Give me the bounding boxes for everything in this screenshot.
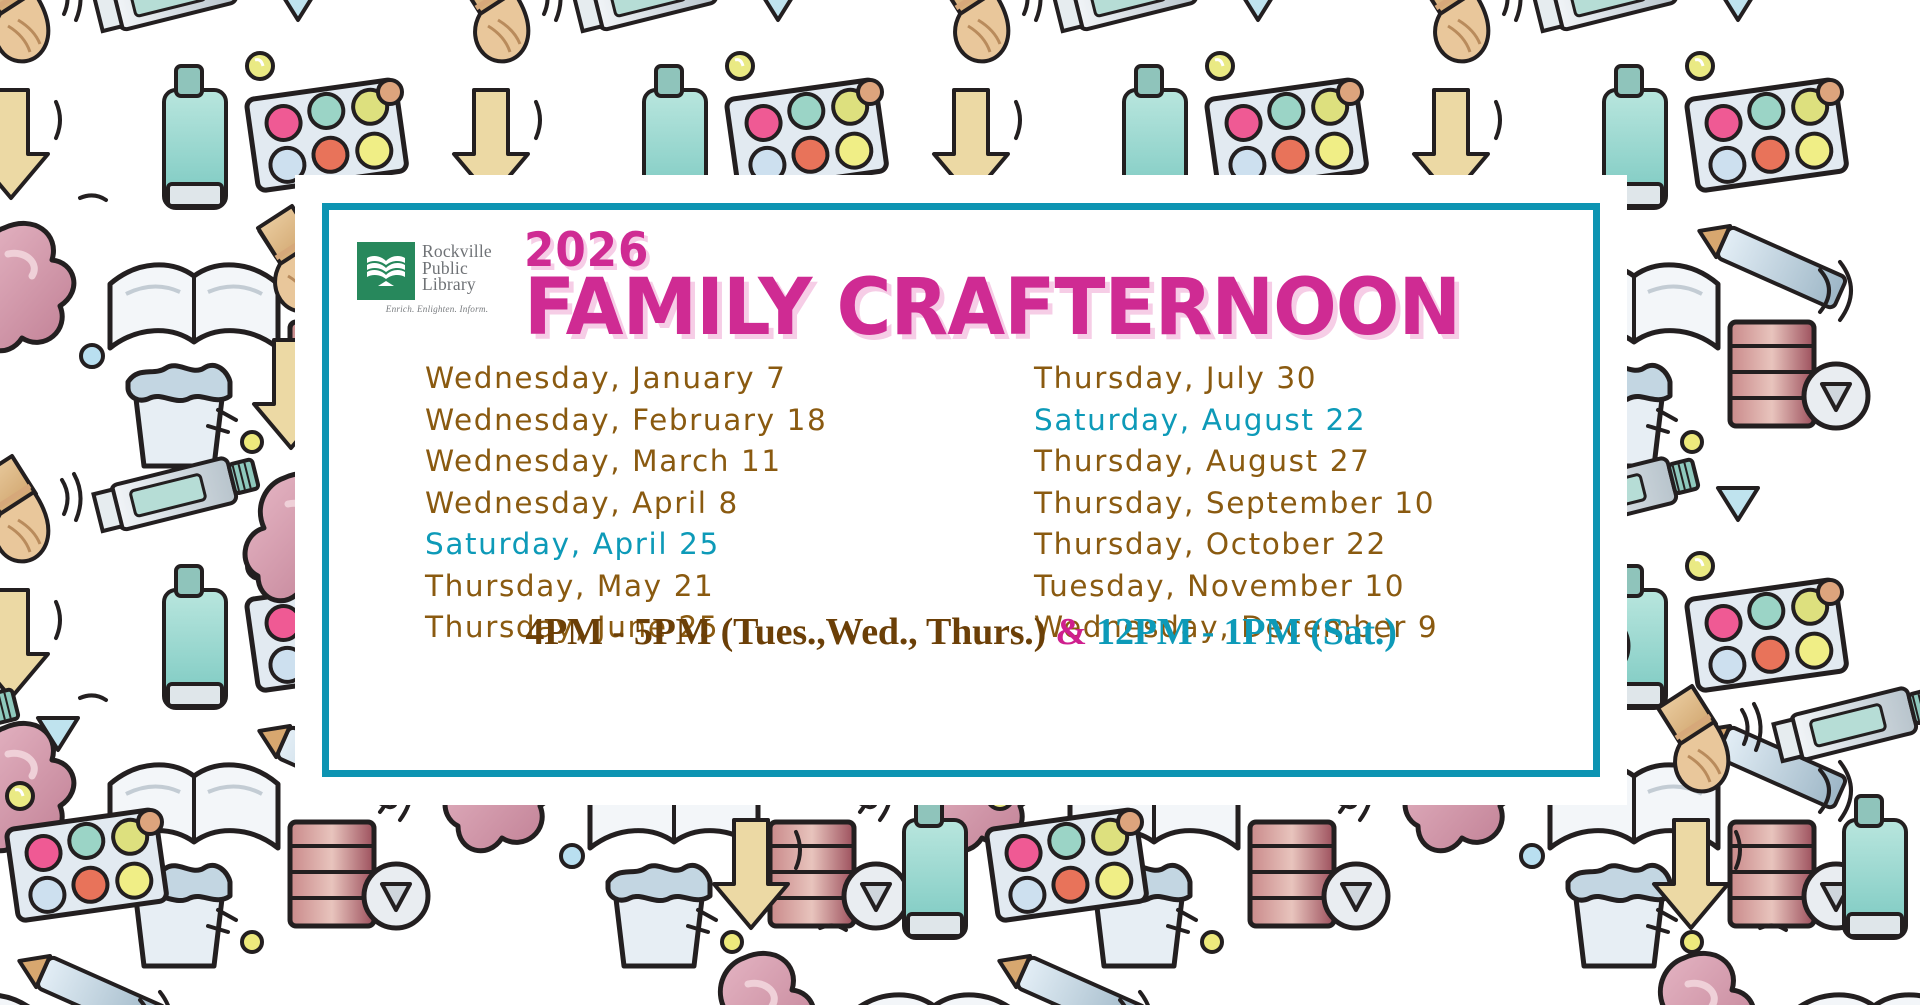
poster-header: Rockville Public Library Enrich. Enlight… (329, 220, 1593, 350)
library-name: Rockville Public Library (422, 242, 492, 293)
dates-column-right: Thursday, July 30Saturday, August 22Thur… (1034, 358, 1438, 649)
poster-panel-border: Rockville Public Library Enrich. Enlight… (322, 203, 1600, 777)
times-line: 4PM - 5PM (Tues.,Wed., Thurs.) & 12PM - … (329, 610, 1593, 654)
date-item-left-1: Wednesday, February 18 (425, 400, 935, 442)
date-item-left-3: Wednesday, April 8 (425, 483, 935, 525)
dates-column-left: Wednesday, January 7Wednesday, February … (425, 358, 935, 649)
date-item-right-2: Thursday, August 27 (1034, 441, 1438, 483)
title-block: 2026 FAMILY CRAFTERNOON (524, 228, 1594, 346)
library-tagline: Enrich. Enlighten. Inform. (357, 304, 517, 314)
date-item-left-2: Wednesday, March 11 (425, 441, 935, 483)
date-item-left-0: Wednesday, January 7 (425, 358, 935, 400)
date-item-right-3: Thursday, September 10 (1034, 483, 1438, 525)
open-book-icon (357, 242, 415, 300)
times-conjunction: & (1055, 611, 1086, 653)
date-item-left-4: Saturday, April 25 (425, 524, 935, 566)
poster-title: FAMILY CRAFTERNOON (524, 270, 1551, 346)
dates-section: Wednesday, January 7Wednesday, February … (329, 358, 1593, 649)
date-item-right-4: Thursday, October 22 (1034, 524, 1438, 566)
date-item-right-1: Saturday, August 22 (1034, 400, 1438, 442)
weekday-times: 4PM - 5PM (Tues.,Wed., Thurs.) (525, 611, 1046, 653)
date-item-right-0: Thursday, July 30 (1034, 358, 1438, 400)
saturday-times: 12PM - 1PM (Sat.) (1096, 611, 1397, 653)
date-item-right-5: Tuesday, November 10 (1034, 566, 1438, 608)
library-name-line-3: Library (422, 276, 492, 293)
library-logo: Rockville Public Library Enrich. Enlight… (357, 242, 517, 314)
date-item-left-5: Thursday, May 21 (425, 566, 935, 608)
